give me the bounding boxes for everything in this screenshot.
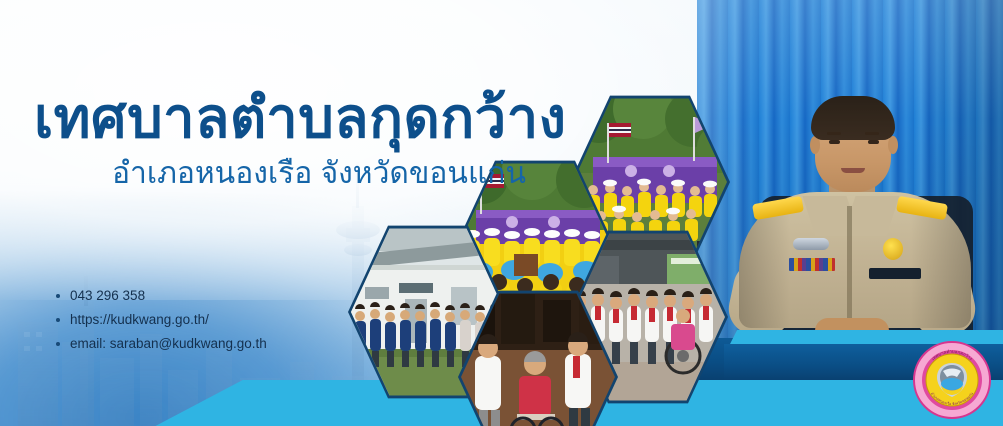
contact-item-website[interactable]: https://kudkwang.go.th/	[54, 312, 267, 327]
contact-item-phone: 043 296 358	[54, 288, 267, 303]
contact-item-email[interactable]: email: saraban@kudkwang.go.th	[54, 336, 267, 351]
municipality-banner: เทศบาลตำบลกุดกว้าง อำเภอหนองเรือ จังหวัด…	[0, 0, 1003, 426]
hexagon-photo-collage	[0, 0, 1003, 426]
contact-website-text[interactable]: https://kudkwang.go.th/	[70, 312, 209, 327]
contact-email-text[interactable]: email: saraban@kudkwang.go.th	[70, 336, 267, 351]
page-title: เทศบาลตำบลกุดกว้าง	[34, 86, 567, 150]
contact-list: 043 296 358 https://kudkwang.go.th/ emai…	[54, 288, 267, 360]
page-subtitle: อำเภอหนองเรือ จังหวัดขอนแก่น	[112, 156, 526, 192]
municipality-seal: เทศบาลตำบลกุดกว้าง อำเภอหนองเรือ จังหวัด…	[913, 341, 991, 419]
contact-phone-text: 043 296 358	[70, 288, 145, 303]
